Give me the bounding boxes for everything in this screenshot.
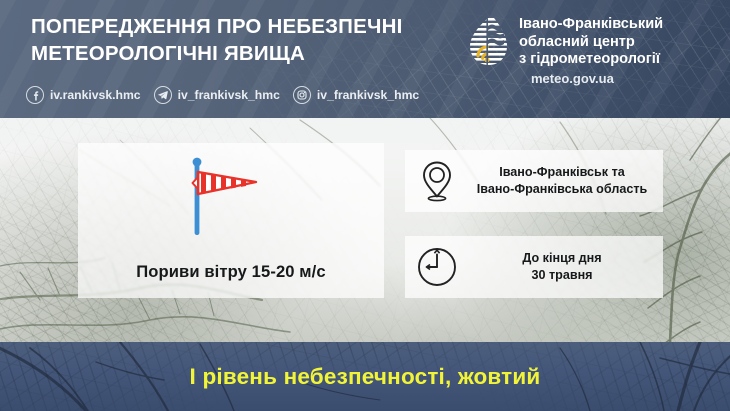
organization-logo: Івано-Франківський обласний центр з гідр… [468,14,663,88]
social-links: iv.rankivsk.hmc iv_frankivsk_hmc [26,86,419,104]
organization-name-line-2: обласний центр [519,34,663,52]
telegram-icon [154,86,172,104]
page-title-line-2: МЕТЕОРОЛОГІЧНІ ЯВИЩА [31,41,461,68]
time-panel: До кінця дня 30 травня [405,236,663,298]
social-link-instagram[interactable]: iv_frankivsk_hmc [293,86,419,104]
leaf-droplet-logo-icon [468,14,508,68]
time-line-2: 30 травня [469,267,655,284]
weather-warning-poster: ПОПЕРЕДЖЕННЯ ПРО НЕБЕЗПЕЧНІ МЕТЕОРОЛОГІЧ… [0,0,730,411]
time-text: До кінця дня 30 травня [469,250,663,284]
organization-website[interactable]: meteo.gov.ua [519,70,663,88]
social-handle-instagram: iv_frankivsk_hmc [317,88,419,102]
hazard-panel: Пориви вітру 15-20 м/с [78,143,384,298]
time-line-1: До кінця дня [469,250,655,267]
windsock-icon [184,155,284,245]
location-line-1: Івано-Франківськ та [469,164,655,181]
organization-name-line-1: Івано-Франківський [519,16,663,34]
social-link-facebook[interactable]: iv.rankivsk.hmc [26,86,141,104]
social-handle-telegram: iv_frankivsk_hmc [178,88,280,102]
location-line-2: Івано-Франківська область [469,181,655,198]
location-pin-icon [405,160,469,202]
header-bar: ПОПЕРЕДЖЕННЯ ПРО НЕБЕЗПЕЧНІ МЕТЕОРОЛОГІЧ… [0,0,730,118]
organization-name-line-3: з гідрометеорології [519,51,663,69]
instagram-icon [293,86,311,104]
location-text: Івано-Франківськ та Івано-Франківська об… [469,164,663,198]
page-title: ПОПЕРЕДЖЕННЯ ПРО НЕБЕЗПЕЧНІ МЕТЕОРОЛОГІЧ… [31,14,461,67]
clock-icon [405,246,469,288]
social-handle-facebook: iv.rankivsk.hmc [50,88,141,102]
danger-level-text: I рівень небезпечності, жовтий [0,342,730,411]
footer-bar: I рівень небезпечності, жовтий [0,342,730,411]
hazard-caption: Пориви вітру 15-20 м/с [78,262,384,282]
location-panel: Івано-Франківськ та Івано-Франківська об… [405,150,663,212]
social-link-telegram[interactable]: iv_frankivsk_hmc [154,86,280,104]
facebook-icon [26,86,44,104]
page-title-line-1: ПОПЕРЕДЖЕННЯ ПРО НЕБЕЗПЕЧНІ [31,14,461,41]
organization-name: Івано-Франківський обласний центр з гідр… [519,14,663,88]
